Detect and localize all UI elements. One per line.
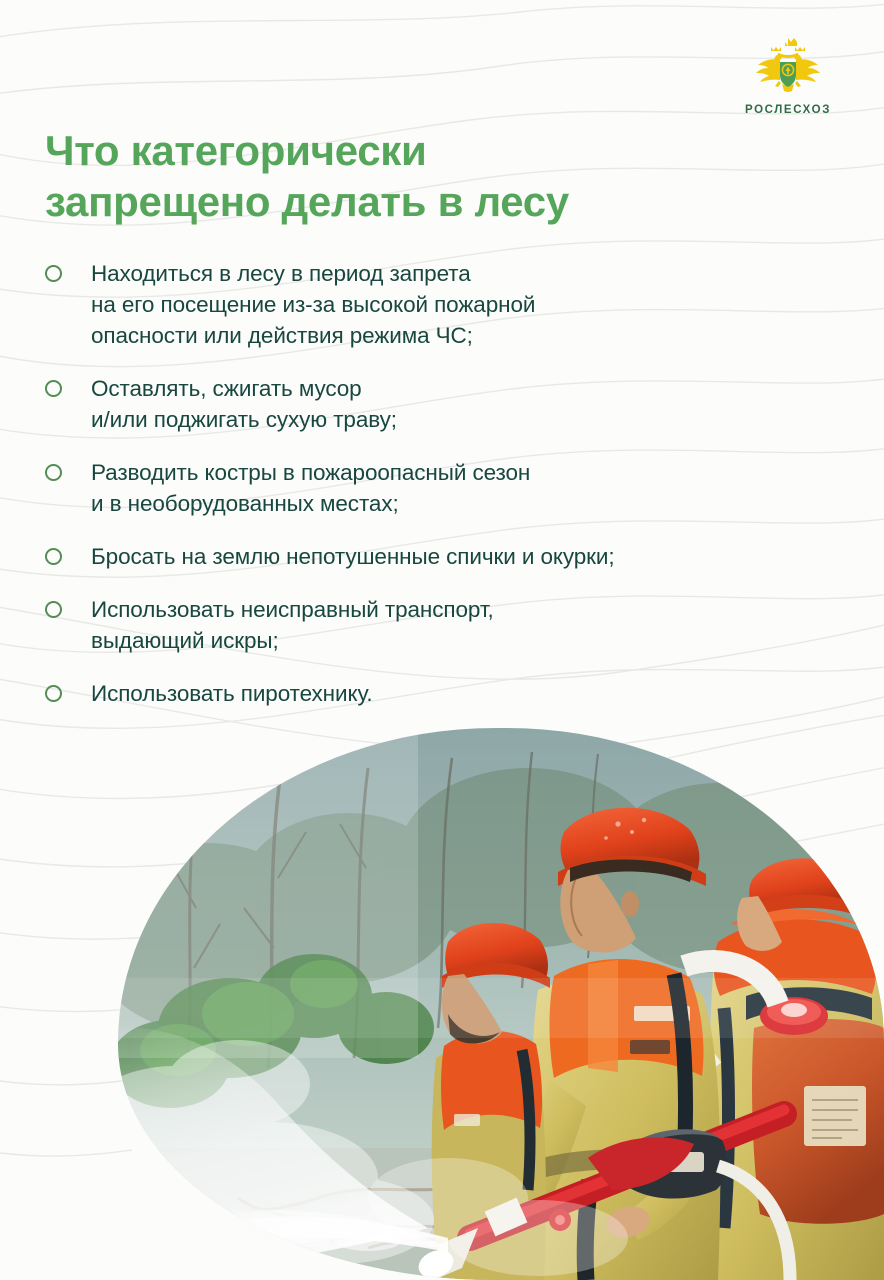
- firefighters-photo-illustration: [118, 728, 884, 1280]
- logo-wordmark: РОСЛЕСХОЗ: [728, 104, 848, 116]
- circle-outline-bullet-icon: [45, 380, 62, 397]
- list-item-label: Использовать пиротехнику.: [91, 678, 373, 709]
- list-item: Использовать пиротехнику.: [45, 678, 835, 709]
- title-line-2: запрещено делать в лесу: [45, 176, 745, 227]
- list-item-label: Использовать неисправный транспорт, выда…: [91, 594, 494, 656]
- circle-outline-bullet-icon: [45, 548, 62, 565]
- title-line-1: Что категорически: [45, 125, 745, 176]
- list-item: Находиться в лесу в период запрета на ег…: [45, 258, 835, 351]
- circle-outline-bullet-icon: [45, 685, 62, 702]
- poster-canvas: РОСЛЕСХОЗ Что категорически запрещено де…: [0, 0, 884, 1280]
- list-item: Бросать на землю непотушенные спички и о…: [45, 541, 835, 572]
- firefighters-photo: [118, 728, 884, 1280]
- circle-outline-bullet-icon: [45, 464, 62, 481]
- circle-outline-bullet-icon: [45, 601, 62, 618]
- prohibited-actions-list: Находиться в лесу в период запрета на ег…: [45, 258, 835, 731]
- list-item: Разводить костры в пожароопасный сезон и…: [45, 457, 835, 519]
- double-headed-eagle-emblem: [752, 34, 824, 100]
- circle-outline-bullet-icon: [45, 265, 62, 282]
- list-item-label: Оставлять, сжигать мусор и/или поджигать…: [91, 373, 397, 435]
- list-item-label: Разводить костры в пожароопасный сезон и…: [91, 457, 530, 519]
- list-item-label: Находиться в лесу в период запрета на ег…: [91, 258, 535, 351]
- list-item-label: Бросать на землю непотушенные спички и о…: [91, 541, 615, 572]
- rosleskhoz-logo: РОСЛЕСХОЗ: [728, 34, 848, 116]
- list-item: Оставлять, сжигать мусор и/или поджигать…: [45, 373, 835, 435]
- page-title: Что категорически запрещено делать в лес…: [45, 125, 745, 227]
- list-item: Использовать неисправный транспорт, выда…: [45, 594, 835, 656]
